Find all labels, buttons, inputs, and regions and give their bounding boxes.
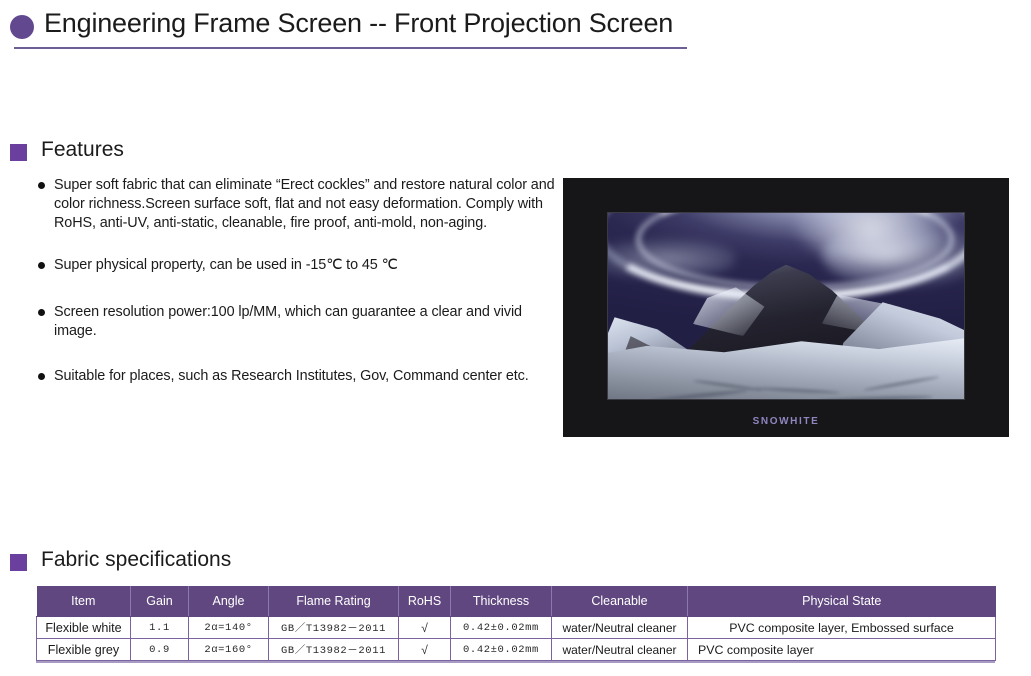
square-marker-icon bbox=[10, 144, 27, 161]
square-marker-icon bbox=[10, 554, 27, 571]
round-bullet-icon bbox=[38, 262, 45, 269]
circle-bullet-icon bbox=[10, 15, 34, 39]
cell-physical-state: PVC composite layer, Embossed surface bbox=[688, 617, 996, 639]
column-header-rohs: RoHS bbox=[399, 586, 451, 617]
fabric-specifications-table: Item Gain Angle Flame Rating RoHS Thickn… bbox=[36, 586, 996, 661]
table-row: Flexible grey 0.9 2α=160° GB／T13982－2011… bbox=[37, 639, 996, 661]
cell-item: Flexible white bbox=[37, 617, 131, 639]
table-bottom-rule bbox=[36, 661, 995, 663]
table-header-row: Item Gain Angle Flame Rating RoHS Thickn… bbox=[37, 586, 996, 617]
features-list: Super soft fabric that can eliminate “Er… bbox=[38, 176, 563, 408]
column-header-flame-rating: Flame Rating bbox=[269, 586, 399, 617]
crevasse bbox=[647, 389, 747, 400]
cell-gain: 1.1 bbox=[131, 617, 189, 639]
column-header-gain: Gain bbox=[131, 586, 189, 617]
list-item: Super soft fabric that can eliminate “Er… bbox=[38, 176, 563, 232]
column-header-item: Item bbox=[37, 586, 131, 617]
crevasse bbox=[693, 379, 762, 391]
cell-cleanable: water/Neutral cleaner bbox=[552, 617, 688, 639]
feature-text: Super soft fabric that can eliminate “Er… bbox=[54, 177, 555, 231]
feature-text: Suitable for places, such as Research In… bbox=[54, 368, 529, 384]
page-title: Engineering Frame Screen -- Front Projec… bbox=[44, 8, 673, 39]
crevasse bbox=[864, 376, 941, 393]
round-bullet-icon bbox=[38, 182, 45, 189]
cell-thickness: 0.42±0.02mm bbox=[451, 617, 552, 639]
cell-cleanable: water/Neutral cleaner bbox=[552, 639, 688, 661]
cell-rohs: √ bbox=[399, 617, 451, 639]
round-bullet-icon bbox=[38, 309, 45, 316]
crevasse bbox=[817, 395, 933, 400]
list-item: Screen resolution power:100 lp/MM, which… bbox=[38, 303, 563, 341]
round-bullet-icon bbox=[38, 373, 45, 380]
column-header-thickness: Thickness bbox=[451, 586, 552, 617]
column-header-angle: Angle bbox=[189, 586, 269, 617]
cell-flame-rating: GB／T13982－2011 bbox=[269, 639, 399, 661]
feature-text: Screen resolution power:100 lp/MM, which… bbox=[54, 304, 522, 339]
cell-gain: 0.9 bbox=[131, 639, 189, 661]
features-heading-label: Features bbox=[41, 138, 124, 162]
title-divider bbox=[14, 47, 687, 49]
list-item: Suitable for places, such as Research In… bbox=[38, 367, 563, 386]
cell-rohs: √ bbox=[399, 639, 451, 661]
screen-display-area bbox=[607, 212, 965, 400]
cell-thickness: 0.42±0.02mm bbox=[451, 639, 552, 661]
column-header-cleanable: Cleanable bbox=[552, 586, 688, 617]
column-header-physical-state: Physical State bbox=[688, 586, 996, 617]
cell-item: Flexible grey bbox=[37, 639, 131, 661]
cell-angle: 2α=140° bbox=[189, 617, 269, 639]
fabric-heading-label: Fabric specifications bbox=[41, 548, 231, 572]
brand-logo: SNOWHITE bbox=[563, 416, 1009, 427]
cell-angle: 2α=160° bbox=[189, 639, 269, 661]
feature-text: Super physical property, can be used in … bbox=[54, 257, 398, 273]
cell-physical-state: PVC composite layer bbox=[688, 639, 996, 661]
page-header: Engineering Frame Screen -- Front Projec… bbox=[0, 0, 1031, 52]
product-image: SNOWHITE bbox=[563, 178, 1009, 437]
crevasse bbox=[755, 386, 840, 394]
cell-flame-rating: GB／T13982－2011 bbox=[269, 617, 399, 639]
table-row: Flexible white 1.1 2α=140° GB／T13982－201… bbox=[37, 617, 996, 639]
list-item: Super physical property, can be used in … bbox=[38, 256, 563, 275]
